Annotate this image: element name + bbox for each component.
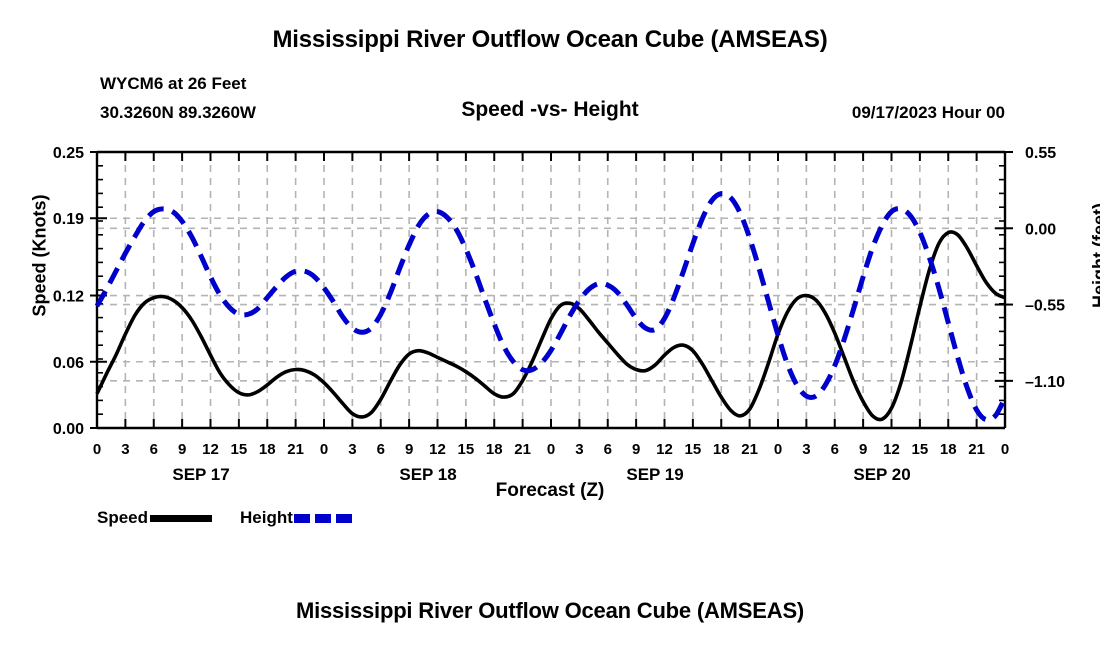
legend-label-speed: Speed [97,508,148,528]
page-title-bottom: Mississippi River Outflow Ocean Cube (AM… [0,598,1100,624]
x-tick-1: 3 [121,441,129,458]
legend-item-speed: Speed [97,508,212,528]
x-tick-13: 15 [458,441,475,458]
x-axis-label: Forecast (Z) [0,480,1100,502]
x-tick-8: 0 [320,441,328,458]
legend-label-height: Height [240,508,293,528]
x-tick-12: 12 [429,441,446,458]
x-tick-22: 18 [713,441,730,458]
x-tick-26: 6 [831,441,839,458]
y-tick-right-0.55: 0.55 [1025,145,1056,162]
y-tick-right-0.00: 0.00 [1025,221,1056,238]
x-tick-28: 12 [883,441,900,458]
y-tick-left-0.06: 0.06 [53,355,84,372]
y-tick-right--0.55: –0.55 [1025,298,1065,315]
x-tick-23: 21 [741,441,758,458]
y-axis-label-right: Height (feet) [1090,176,1100,336]
y-tick-left-0.12: 0.12 [53,289,84,306]
x-tick-31: 21 [968,441,985,458]
x-tick-29: 15 [912,441,929,458]
plot-area: 0.000.060.120.190.25–1.10–0.550.000.5503… [0,0,1100,650]
x-tick-17: 3 [575,441,583,458]
y-tick-left-0.00: 0.00 [53,421,84,438]
x-tick-9: 3 [348,441,356,458]
x-tick-25: 3 [802,441,810,458]
chart-page: Mississippi River Outflow Ocean Cube (AM… [0,0,1100,650]
x-tick-19: 9 [632,441,640,458]
x-tick-18: 6 [604,441,612,458]
x-tick-7: 21 [287,441,304,458]
x-tick-30: 18 [940,441,957,458]
x-tick-2: 6 [150,441,158,458]
y-tick-right--1.10: –1.10 [1025,374,1065,391]
x-tick-10: 6 [377,441,385,458]
x-tick-4: 12 [202,441,219,458]
y-axis-label-left: Speed (Knots) [30,176,51,336]
x-tick-3: 9 [178,441,186,458]
x-tick-6: 18 [259,441,276,458]
legend-item-height: Height [240,508,356,528]
x-tick-15: 21 [514,441,531,458]
x-tick-21: 15 [685,441,702,458]
y-tick-left-0.25: 0.25 [53,145,84,162]
chart-legend: Speed Height [97,505,356,531]
legend-swatch-height [294,514,356,523]
chart-svg: 0.000.060.120.190.25–1.10–0.550.000.5503… [0,0,1100,650]
x-tick-32: 0 [1001,441,1009,458]
x-tick-5: 15 [231,441,248,458]
y-tick-left-0.19: 0.19 [53,211,84,228]
legend-swatch-speed [150,515,212,522]
x-tick-24: 0 [774,441,782,458]
x-tick-11: 9 [405,441,413,458]
x-tick-14: 18 [486,441,503,458]
x-tick-27: 9 [859,441,867,458]
x-tick-16: 0 [547,441,555,458]
x-tick-0: 0 [93,441,101,458]
x-tick-20: 12 [656,441,673,458]
